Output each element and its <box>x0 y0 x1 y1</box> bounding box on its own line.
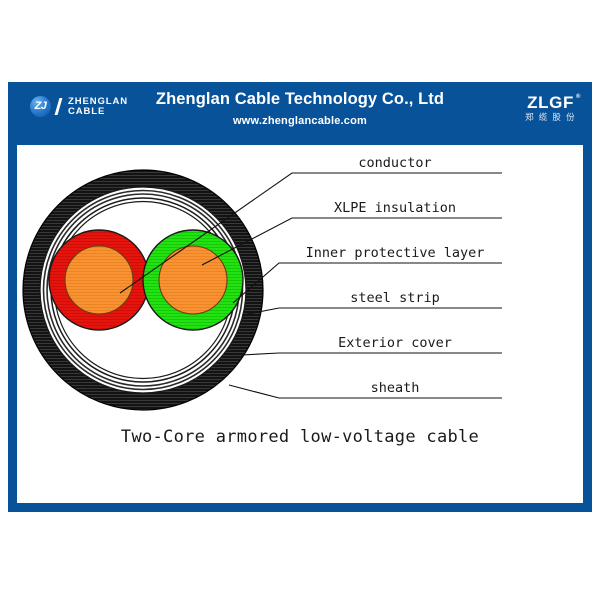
registered-trademark-icon: ® <box>576 94 581 100</box>
label-inner-protective-layer: Inner protective layer <box>306 245 485 261</box>
company-logo-right: ZLGF® 郑 缆 股 份 <box>525 94 576 122</box>
company-website-url[interactable]: www.zhenglancable.com <box>8 115 592 127</box>
label-group: conductor XLPE insulation Inner protecti… <box>306 155 485 396</box>
core-right-conductor <box>159 246 227 314</box>
label-xlpe-insulation: XLPE insulation <box>334 200 456 216</box>
product-image-card: ZJ ZHENGLAN CABLE Zhenglan Cable Technol… <box>8 82 592 512</box>
label-conductor: conductor <box>358 155 431 171</box>
cable-diagram-area: conductor XLPE insulation Inner protecti… <box>17 145 583 503</box>
cable-layers <box>23 170 263 410</box>
zlgf-wordmark: ZLGF® <box>525 94 576 111</box>
core-left <box>49 230 149 330</box>
leader-line-steel-strip <box>243 308 502 315</box>
core-right <box>143 230 243 330</box>
zlgf-chinese-name: 郑 缆 股 份 <box>525 113 576 122</box>
label-steel-strip: steel strip <box>350 290 439 306</box>
leader-line-exterior-cover <box>241 353 502 355</box>
brand-header-bar: ZJ ZHENGLAN CABLE Zhenglan Cable Technol… <box>8 82 592 145</box>
label-exterior-cover: Exterior cover <box>338 335 452 351</box>
cable-cross-section-diagram: conductor XLPE insulation Inner protecti… <box>17 145 583 445</box>
company-name-title: Zhenglan Cable Technology Co., Ltd <box>8 90 592 109</box>
core-left-conductor <box>65 246 133 314</box>
leader-line-sheath <box>229 385 502 398</box>
zlgf-text: ZLGF <box>527 93 574 112</box>
label-sheath: sheath <box>371 380 420 396</box>
diagram-caption: Two-Core armored low-voltage cable <box>17 427 583 447</box>
